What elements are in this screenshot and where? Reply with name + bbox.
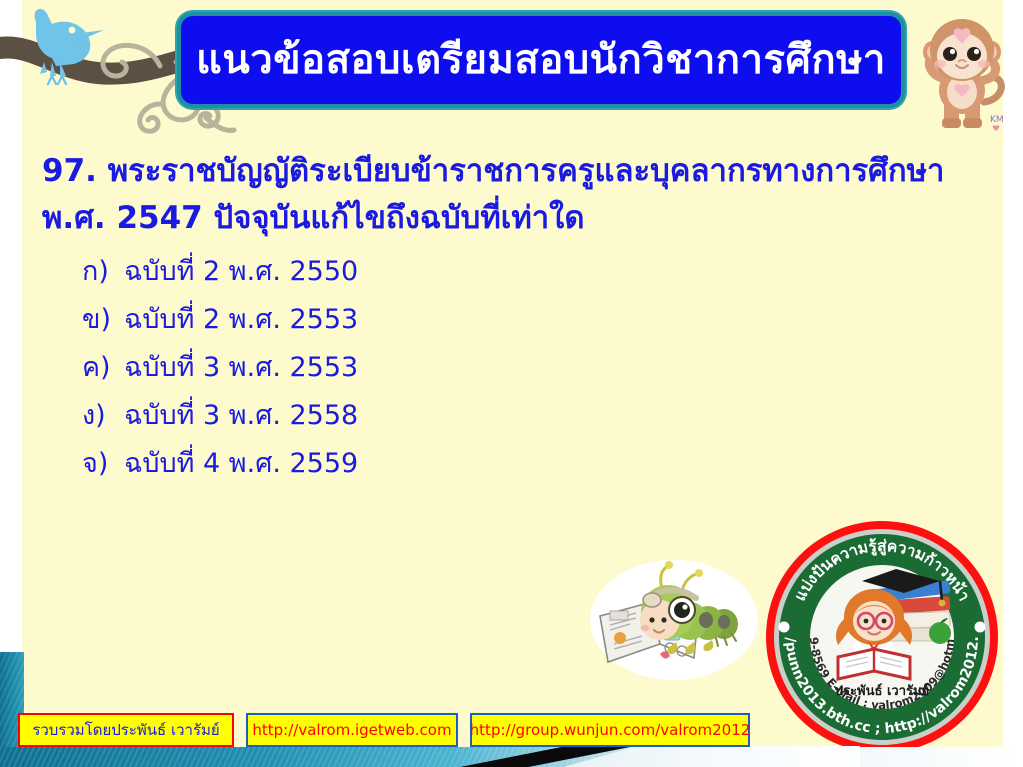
question-block: 97. พระราชบัญญัติระเบียบข้าราชการครูและบ… [42,148,992,242]
caterpillar-reading-decoration [590,558,758,683]
slide-canvas: KM แนวข้อสอบเตรียมสอบนักวิชาการศึกษา 97.… [0,0,1023,767]
question-line-2: พ.ศ. 2547 ปัจจุบันแก้ไขถึงฉบับที่เท่าใด [42,195,992,242]
monkey-mascot-decoration: KM [912,6,1014,134]
choice-option-ก[interactable]: ก) ฉบับที่ 2 พ.ศ. 2550 [82,258,782,306]
choice-option-ข[interactable]: ข) ฉบับที่ 2 พ.ศ. 2553 [82,306,782,354]
choice-list: ก) ฉบับที่ 2 พ.ศ. 2550 ข) ฉบับที่ 2 พ.ศ.… [82,258,782,498]
choice-option-ค[interactable]: ค) ฉบับที่ 3 พ.ศ. 2553 [82,354,782,402]
choice-option-ง[interactable]: ง) ฉบับที่ 3 พ.ศ. 2558 [82,402,782,450]
choice-label: จ) [82,450,124,477]
choice-label: ก) [82,258,124,285]
seal-name-text: ประพันธ์ เวารัมย์ [835,683,929,699]
footer-link-group-wunjun[interactable]: http://group.wunjun.com/valrom2012 [470,713,750,747]
title-banner: แนวข้อสอบเตรียมสอบนักวิชาการศึกษา [177,12,905,108]
choice-label: ค) [82,354,124,381]
choice-option-จ[interactable]: จ) ฉบับที่ 4 พ.ศ. 2559 [82,450,782,498]
page-title: แนวข้อสอบเตรียมสอบนักวิชาการศึกษา [196,38,886,82]
question-line-1: 97. พระราชบัญญัติระเบียบข้าราชการครูและบ… [42,148,992,195]
choice-label: ข) [82,306,124,333]
choice-text: ฉบับที่ 2 พ.ศ. 2553 [124,306,358,333]
organization-seal: แบ่งปันความรู้สู่ความก้าวหน้า http://pun… [764,519,1000,755]
footer-bar: รวบรวมโดยประพันธ์ เวารัมย์ http://valrom… [18,712,750,748]
choice-text: ฉบับที่ 3 พ.ศ. 2553 [124,354,358,381]
choice-text: ฉบับที่ 4 พ.ศ. 2559 [124,450,358,477]
footer-link-valrom-igetweb[interactable]: http://valrom.igetweb.com [246,713,458,747]
choice-text: ฉบับที่ 3 พ.ศ. 2558 [124,402,358,429]
footer-credit-box: รวบรวมโดยประพันธ์ เวารัมย์ [18,713,234,747]
choice-text: ฉบับที่ 2 พ.ศ. 2550 [124,258,358,285]
choice-label: ง) [82,402,124,429]
svg-text:KM: KM [990,115,1004,125]
